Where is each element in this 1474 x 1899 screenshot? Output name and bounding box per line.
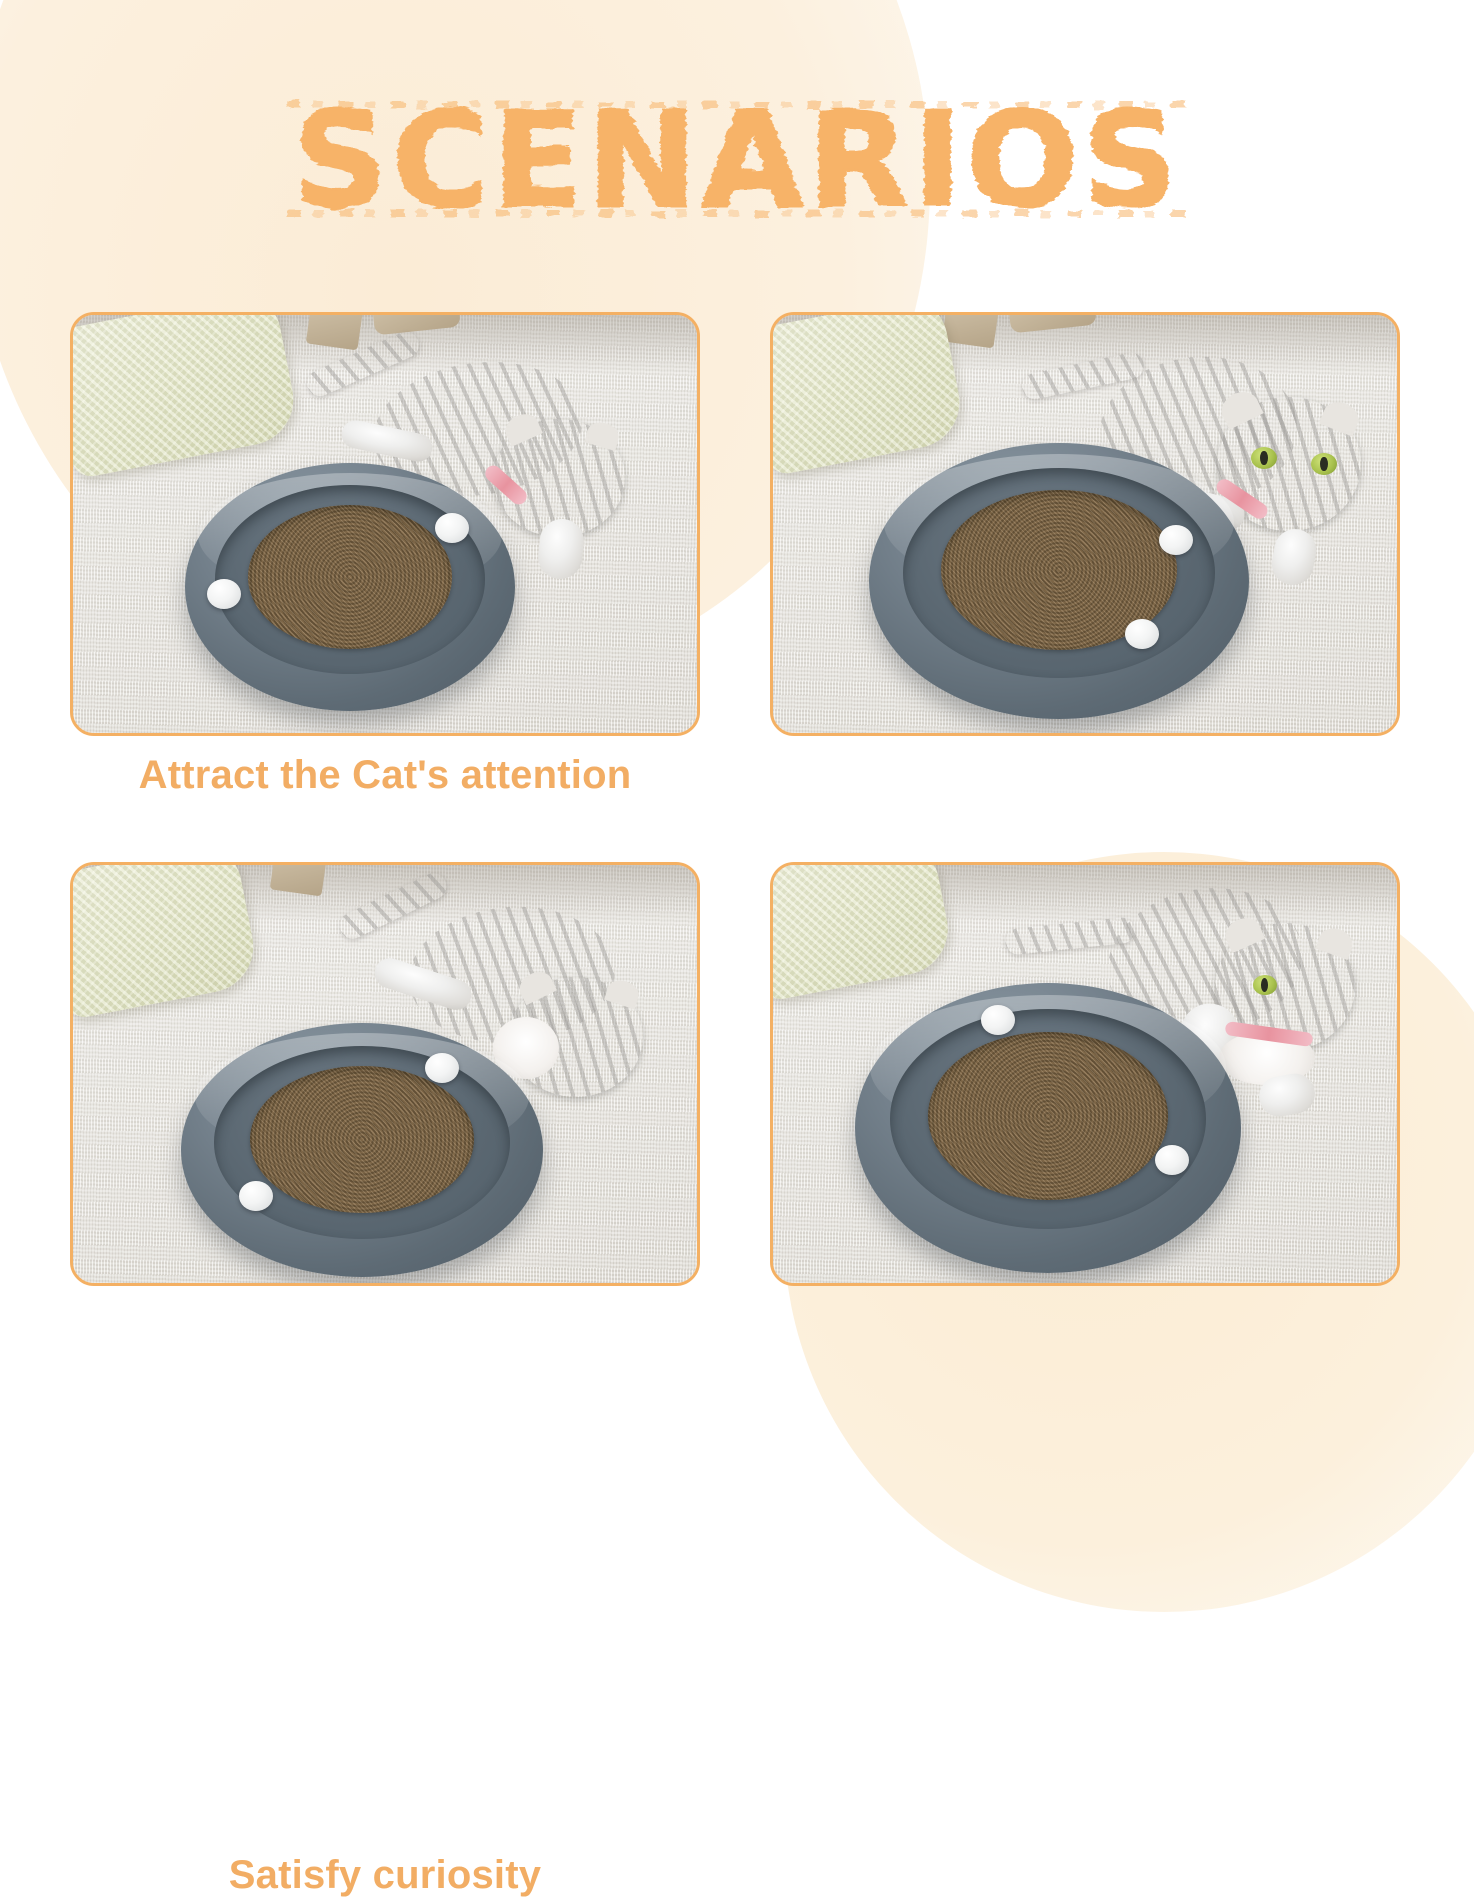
scenario-caption-stimulates-senses: Stimulates cat's sense anohunting instin…: [1470, 742, 1474, 836]
cat-toy: [869, 443, 1249, 719]
scratching-pad: [928, 1032, 1167, 1200]
toy-ball: [207, 579, 241, 609]
caption-line-1: Attract the Cat's attention: [70, 752, 700, 799]
toy-ball: [981, 1005, 1015, 1035]
scratching-pad: [248, 505, 453, 649]
photo-scene: [773, 865, 1397, 1283]
caption-line-1: Stimulates cat's sense: [1470, 742, 1474, 789]
scenario-caption-attract-attention: Attract the Cat's attention: [70, 752, 700, 799]
toy-ball: [425, 1053, 459, 1083]
cat-toy: [181, 1023, 543, 1277]
scenario-card-stimulates-senses: Stimulates cat's sense anohunting instin…: [770, 312, 1400, 736]
photo-scene: [73, 865, 697, 1283]
photo-scene: [73, 315, 697, 733]
photo-scene: [773, 315, 1397, 733]
cat-toy: [185, 463, 515, 711]
cat-eye: [1311, 453, 1337, 475]
cat-eye: [1253, 975, 1277, 995]
page-title: SCENARIOS: [0, 95, 1474, 227]
toy-ball: [239, 1181, 273, 1211]
scenario-photo-attract-attention: [70, 312, 700, 736]
caption-line-1: Satisfy curiosity: [70, 1852, 700, 1899]
scenario-photo-stimulates-senses: [770, 312, 1400, 736]
toy-ball: [435, 513, 469, 543]
toy-ball: [1159, 525, 1193, 555]
scenario-photo-satisfy-curiosity: [70, 862, 700, 1286]
toy-ball: [1125, 619, 1159, 649]
scenario-photo-bring-more-fun: [770, 862, 1400, 1286]
toy-ball: [1155, 1145, 1189, 1175]
caption-line-2: anohunting instincts: [1470, 789, 1474, 836]
caption-line-1: Bring more fun to your cat: [1470, 1852, 1474, 1899]
scenario-caption-bring-more-fun: Bring more fun to your cat: [1470, 1852, 1474, 1899]
scenario-caption-satisfy-curiosity: Satisfy curiosity: [70, 1852, 700, 1899]
scenario-card-attract-attention: Attract the Cat's attention: [70, 312, 700, 736]
page-title-text: SCENARIOS: [293, 84, 1182, 238]
scenario-card-bring-more-fun: Bring more fun to your cat: [770, 862, 1400, 1286]
cat-toy: [855, 983, 1241, 1273]
cat-eye: [1251, 447, 1277, 469]
scenario-card-satisfy-curiosity: Satisfy curiosity: [70, 862, 700, 1286]
scratching-pad: [250, 1066, 474, 1213]
